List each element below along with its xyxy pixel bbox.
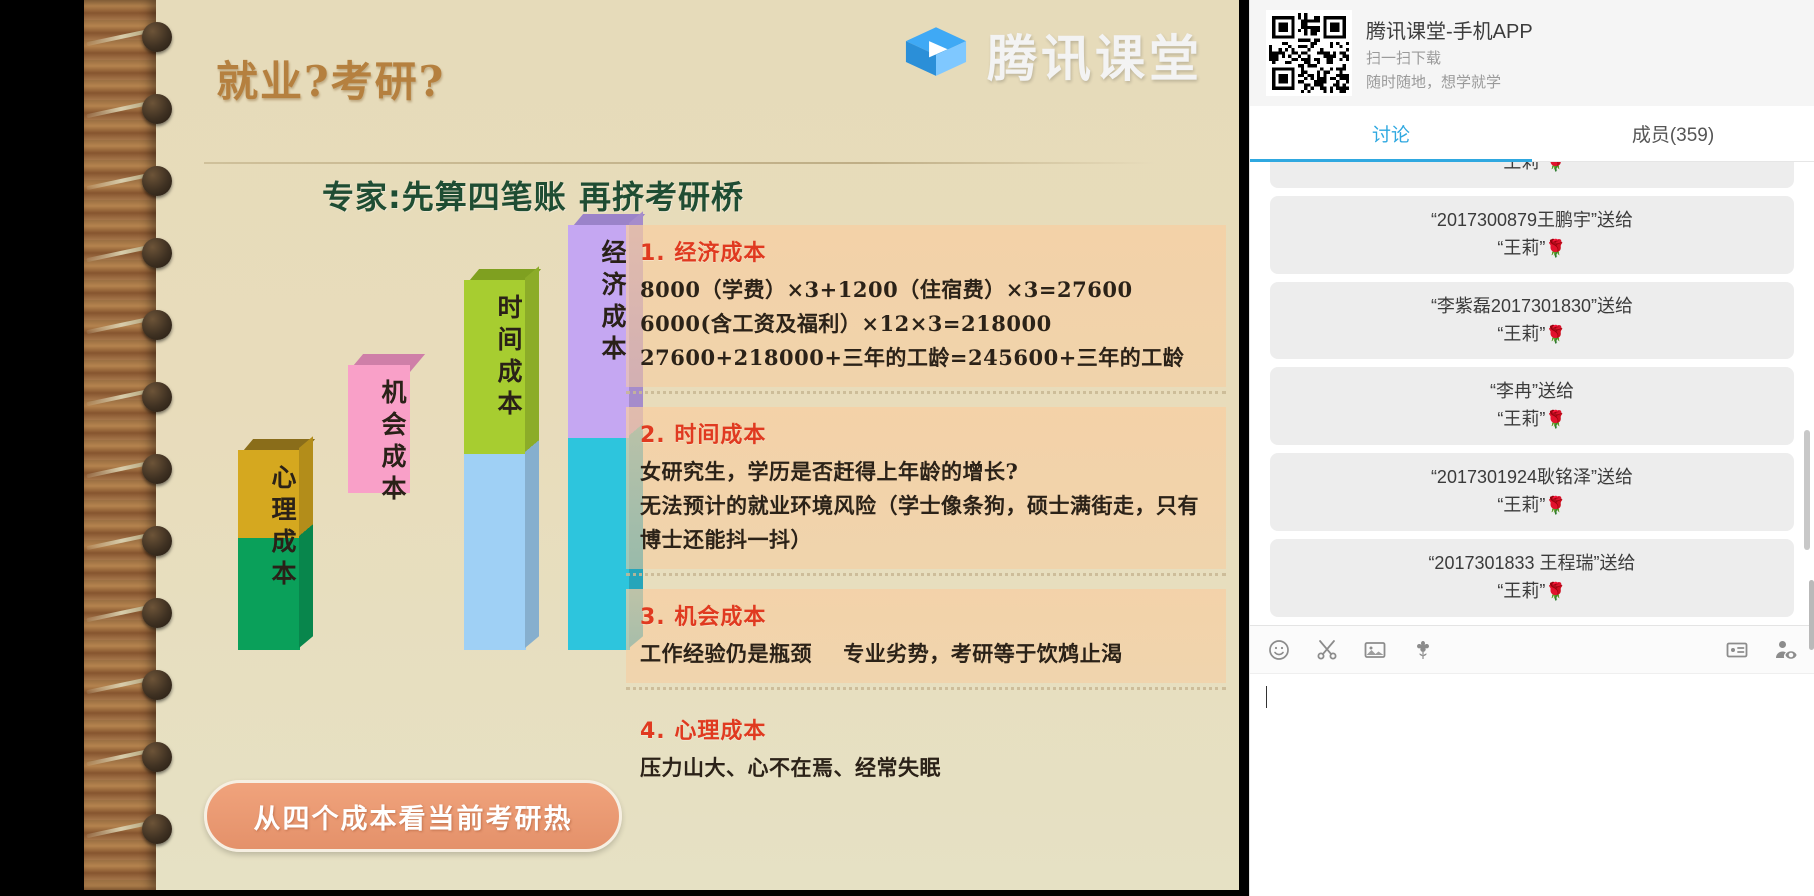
section-line: 27600+218000+三年的工龄=245600+三年的工龄 xyxy=(640,341,1212,375)
chat-tabs: 讨论 成员(359) xyxy=(1250,106,1814,162)
brand-watermark: 腾讯课堂 xyxy=(899,18,1203,92)
bar-心理成本: 心理成本 xyxy=(238,450,300,650)
message-line-2: “王莉”🌹 xyxy=(1284,235,1780,263)
chat-message[interactable]: “王莉”🌹 xyxy=(1270,162,1794,188)
bar-经济成本: 经济成本 xyxy=(568,225,630,650)
section-line: 8000（学费）×3+1200（住宿费）×3=27600 xyxy=(640,273,1212,307)
text-caret xyxy=(1266,686,1267,708)
message-line-2: “王莉”🌹 xyxy=(1284,321,1780,349)
bar-upper-segment xyxy=(464,280,526,454)
bar-side-face xyxy=(409,351,423,648)
cost-bar-chart: 心理成本机会成本时间成本经济成本 xyxy=(196,230,656,650)
message-line-1: “李紫磊2017301830”送给 xyxy=(1284,293,1780,321)
chat-message[interactable]: “2017301924耿铭泽”送给“王莉”🌹 xyxy=(1270,453,1794,531)
compose-toolbar xyxy=(1250,626,1814,674)
section-economic-cost: 1. 经济成本8000（学费）×3+1200（住宿费）×3=276006000(… xyxy=(626,225,1226,387)
message-line-2: “王莉”🌹 xyxy=(1284,406,1780,434)
bar-lower-segment xyxy=(238,538,300,650)
compose-area xyxy=(1250,625,1814,896)
section-separator xyxy=(626,391,1226,403)
id-card-icon[interactable] xyxy=(1724,637,1750,663)
slide-paper: 腾讯课堂 就业?考研? 专家:先算四笔账 再挤考研桥 心理成本机会成本时间成本经… xyxy=(156,0,1239,890)
rose-gift-icon: 🌹 xyxy=(1545,325,1566,344)
section-line: 无法预计的就业环境风险（学士像条狗，硕士满街走，只有博士还能抖一抖） xyxy=(640,489,1212,557)
tab-members[interactable]: 成员(359) xyxy=(1532,106,1814,161)
rose-gift-icon: 🌹 xyxy=(1545,239,1566,258)
section-line: 6000(含工资及福利）×12×3=218000 xyxy=(640,307,1212,341)
binding-ring xyxy=(142,382,172,412)
chart-caption-label: 从四个成本看当前考研热 xyxy=(254,797,573,836)
section-separator xyxy=(626,687,1226,699)
bar-lower-segment xyxy=(464,454,526,650)
binding-ring xyxy=(142,166,172,196)
section-psychological-cost: 4. 心理成本压力山大、心不在焉、经常失眠 xyxy=(626,703,1226,797)
play-graduation-cap-icon xyxy=(899,18,973,92)
brand-name: 腾讯课堂 xyxy=(987,19,1203,91)
panel-scrollbar[interactable] xyxy=(1809,580,1814,650)
section-time-cost: 2. 时间成本女研究生，学历是否赶得上年龄的增长?无法预计的就业环境风险（学士像… xyxy=(626,407,1226,569)
binding-ring xyxy=(142,238,172,268)
message-line-2: “王莉”🌹 xyxy=(1284,162,1780,177)
binding-ring xyxy=(142,94,172,124)
section-line: 压力山大、心不在焉、经常失眠 xyxy=(640,751,1212,785)
slide-title: 就业?考研? xyxy=(216,48,445,109)
section-heading: 2. 时间成本 xyxy=(640,417,1212,449)
message-scrollbar[interactable] xyxy=(1804,430,1810,550)
message-line-2: “王莉”🌹 xyxy=(1284,492,1780,520)
chat-panel: 腾讯课堂-手机APP 扫一扫下载 随时随地，想学就学 讨论 成员(359) “王… xyxy=(1249,0,1814,896)
message-line-1: “2017300879王鹏宇”送给 xyxy=(1284,207,1780,235)
chat-message[interactable]: “李紫磊2017301830”送给“王莉”🌹 xyxy=(1270,282,1794,360)
bar-upper-segment xyxy=(238,450,300,538)
section-heading: 1. 经济成本 xyxy=(640,235,1212,267)
smiley-face-icon[interactable] xyxy=(1266,637,1292,663)
message-line-1: “2017301924耿铭泽”送给 xyxy=(1284,464,1780,492)
binding-ring xyxy=(142,454,172,484)
bar-side-face xyxy=(299,436,313,648)
video-stage[interactable]: 腾讯课堂 就业?考研? 专家:先算四笔账 再挤考研桥 心理成本机会成本时间成本经… xyxy=(0,0,1249,896)
promo-line-2: 随时随地，想学就学 xyxy=(1366,71,1533,92)
chat-message[interactable]: “2017300879王鹏宇”送给“王莉”🌹 xyxy=(1270,196,1794,274)
slide-subtitle: 专家:先算四笔账 再挤考研桥 xyxy=(322,172,744,218)
tab-members-label: 成员(359) xyxy=(1632,120,1714,147)
chat-message[interactable]: “2017301833 王程瑞”送给“王莉”🌹 xyxy=(1270,539,1794,617)
chart-caption-banner: 从四个成本看当前考研热 xyxy=(204,780,622,852)
rose-gift-icon: 🌹 xyxy=(1545,162,1566,172)
title-divider xyxy=(204,162,1154,164)
message-line-1: “2017301833 王程瑞”送给 xyxy=(1284,550,1780,578)
scissors-icon[interactable] xyxy=(1314,637,1340,663)
binding-ring xyxy=(142,22,172,52)
section-opportunity-cost: 3. 机会成本工作经验仍是瓶颈 专业劣势，考研等于饮鸩止渴 xyxy=(626,589,1226,683)
chat-message[interactable]: “李冉”送给“王莉”🌹 xyxy=(1270,367,1794,445)
section-separator xyxy=(626,573,1226,585)
binding-ring xyxy=(142,742,172,772)
message-line-2: “王莉”🌹 xyxy=(1284,578,1780,606)
bar-时间成本: 时间成本 xyxy=(464,280,526,650)
rose-gift-icon: 🌹 xyxy=(1545,410,1566,429)
app-root: 腾讯课堂 就业?考研? 专家:先算四笔账 再挤考研桥 心理成本机会成本时间成本经… xyxy=(0,0,1814,896)
message-line-1: “李冉”送给 xyxy=(1284,378,1780,406)
bar-side-face xyxy=(525,266,539,648)
tab-discussion[interactable]: 讨论 xyxy=(1250,106,1532,161)
rose-gift-icon: 🌹 xyxy=(1545,496,1566,515)
binding-ring xyxy=(142,670,172,700)
binding-ring xyxy=(142,526,172,556)
section-heading: 3. 机会成本 xyxy=(640,599,1212,631)
app-download-promo: 腾讯课堂-手机APP 扫一扫下载 随时随地，想学就学 xyxy=(1250,0,1814,106)
bar-lower-segment xyxy=(568,438,630,650)
binding-ring xyxy=(142,814,172,844)
person-eye-icon[interactable] xyxy=(1772,637,1798,663)
bar-upper-segment xyxy=(568,225,630,438)
bar-机会成本: 机会成本 xyxy=(348,365,410,650)
bar-upper-segment xyxy=(348,365,410,493)
binding-ring xyxy=(142,310,172,340)
message-list[interactable]: “王莉”🌹“2017300879王鹏宇”送给“王莉”🌹“李紫磊201730183… xyxy=(1250,162,1814,625)
rose-gift-icon: 🌹 xyxy=(1545,582,1566,601)
bar-lower-segment xyxy=(348,493,410,650)
cost-sections: 1. 经济成本8000（学费）×3+1200（住宿费）×3=276006000(… xyxy=(626,225,1226,797)
promo-line-1: 扫一扫下载 xyxy=(1366,47,1533,68)
tab-discussion-label: 讨论 xyxy=(1372,120,1410,147)
image-icon[interactable] xyxy=(1362,637,1388,663)
message-input[interactable] xyxy=(1250,674,1814,896)
qr-code-icon xyxy=(1266,10,1352,96)
flower-gift-icon[interactable] xyxy=(1410,637,1436,663)
section-heading: 4. 心理成本 xyxy=(640,713,1212,745)
binding-ring xyxy=(142,598,172,628)
section-line: 女研究生，学历是否赶得上年龄的增长? xyxy=(640,455,1212,489)
section-line: 工作经验仍是瓶颈 专业劣势，考研等于饮鸩止渴 xyxy=(640,637,1212,671)
promo-title: 腾讯课堂-手机APP xyxy=(1366,15,1533,44)
